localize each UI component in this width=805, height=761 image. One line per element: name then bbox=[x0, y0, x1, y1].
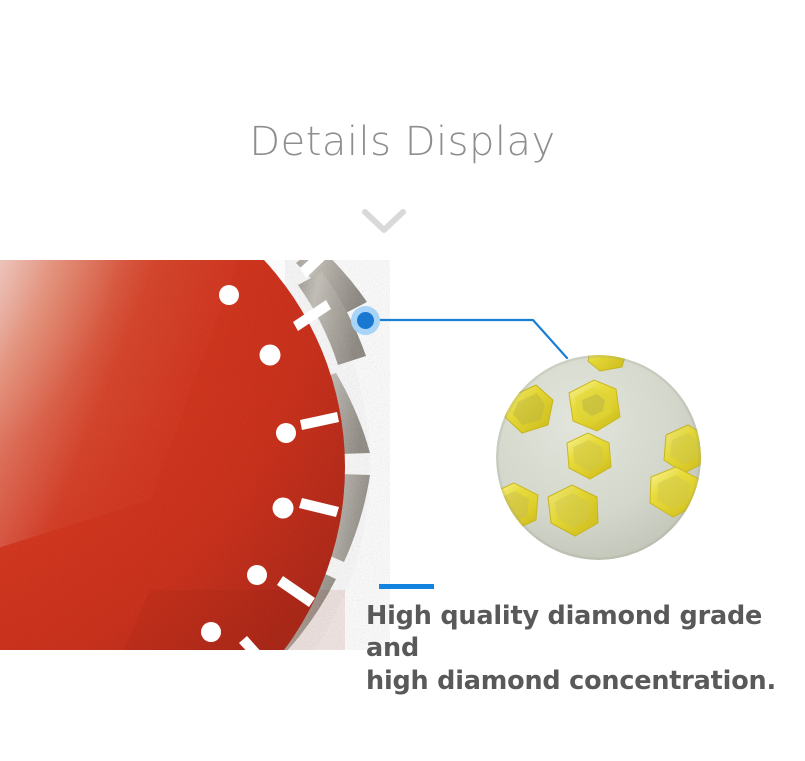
page-title: Details Display bbox=[0, 122, 805, 162]
product-photo-saw-blade bbox=[0, 260, 400, 650]
callout-dot-icon[interactable] bbox=[351, 306, 380, 335]
details-display-panel: Details Display bbox=[0, 0, 805, 761]
chevron-down-icon bbox=[362, 206, 406, 236]
caption-accent-rule bbox=[379, 584, 434, 589]
caption-block: High quality diamond grade and high diam… bbox=[366, 584, 786, 697]
magnified-diamond-grit-photo bbox=[496, 355, 701, 560]
caption-text: High quality diamond grade and high diam… bbox=[366, 600, 786, 697]
